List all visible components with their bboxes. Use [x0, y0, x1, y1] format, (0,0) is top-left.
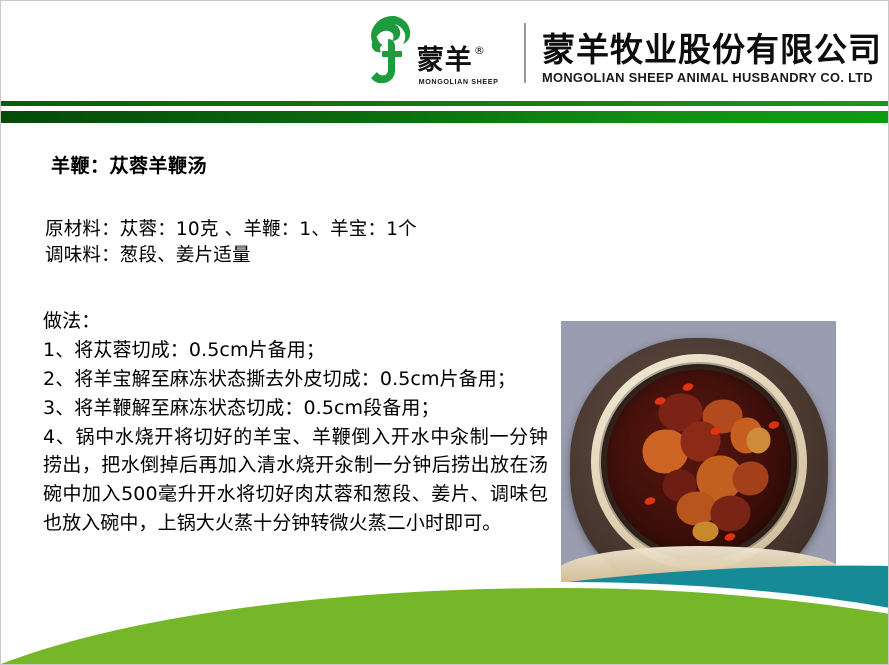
company-name-block: 蒙羊牧业股份有限公司 MONGOLIAN SHEEP ANIMAL HUSBAN… — [542, 32, 882, 87]
method-step-1: 1、将苁蓉切成：0.5cm片备用； — [43, 336, 548, 365]
mongolian-sheep-logo-mark — [368, 15, 414, 87]
logo-wordmark: 蒙羊® MONGOLIAN SHEEP — [417, 47, 500, 87]
ingredients-block: 原材料：苁蓉：10克 、羊鞭：1、羊宝：1个 调味料：葱段、姜片适量 — [45, 217, 545, 270]
footer-decoration — [1, 544, 889, 664]
brand-lockup: 蒙羊® MONGOLIAN SHEEP 蒙羊牧业股份有限公司 MONGOLIAN… — [368, 15, 882, 87]
method-heading: 做法： — [43, 307, 548, 336]
header-rule-thin — [1, 101, 889, 106]
slide-header: 蒙羊® MONGOLIAN SHEEP 蒙羊牧业股份有限公司 MONGOLIAN… — [1, 1, 889, 101]
brand-divider — [524, 23, 526, 83]
method-step-4: 4、锅中水烧开将切好的羊宝、羊鞭倒入开水中汆制一分钟捞出，把水倒掉后再加入清水烧… — [43, 423, 548, 539]
registered-trademark-icon: ® — [474, 45, 486, 56]
page-title: 羊鞭：苁蓉羊鞭汤 — [51, 151, 207, 178]
logo-chinese-name: 蒙羊® — [417, 47, 473, 74]
company-logo: 蒙羊® MONGOLIAN SHEEP — [368, 15, 500, 87]
method-step-3: 3、将羊鞭解至麻冻状态切成：0.5cm段备用； — [43, 394, 548, 423]
header-rule-thick — [1, 111, 889, 123]
logo-chinese-text: 蒙羊 — [417, 45, 473, 76]
soup-surface — [606, 369, 791, 554]
method-step-2: 2、将羊宝解至麻冻状态撕去外皮切成：0.5cm片备用； — [43, 365, 548, 394]
logo-english-name: MONGOLIAN SHEEP — [418, 77, 498, 86]
presentation-slide: 蒙羊® MONGOLIAN SHEEP 蒙羊牧业股份有限公司 MONGOLIAN… — [0, 0, 889, 665]
ingredients-line-seasoning: 调味料：葱段、姜片适量 — [45, 243, 545, 269]
company-english-name: MONGOLIAN SHEEP ANIMAL HUSBANDRY CO. LTD — [542, 70, 879, 85]
method-block: 做法： 1、将苁蓉切成：0.5cm片备用； 2、将羊宝解至麻冻状态撕去外皮切成：… — [43, 307, 548, 538]
company-chinese-name: 蒙羊牧业股份有限公司 — [542, 32, 882, 68]
ingredients-line-raw: 原材料：苁蓉：10克 、羊鞭：1、羊宝：1个 — [45, 217, 545, 243]
